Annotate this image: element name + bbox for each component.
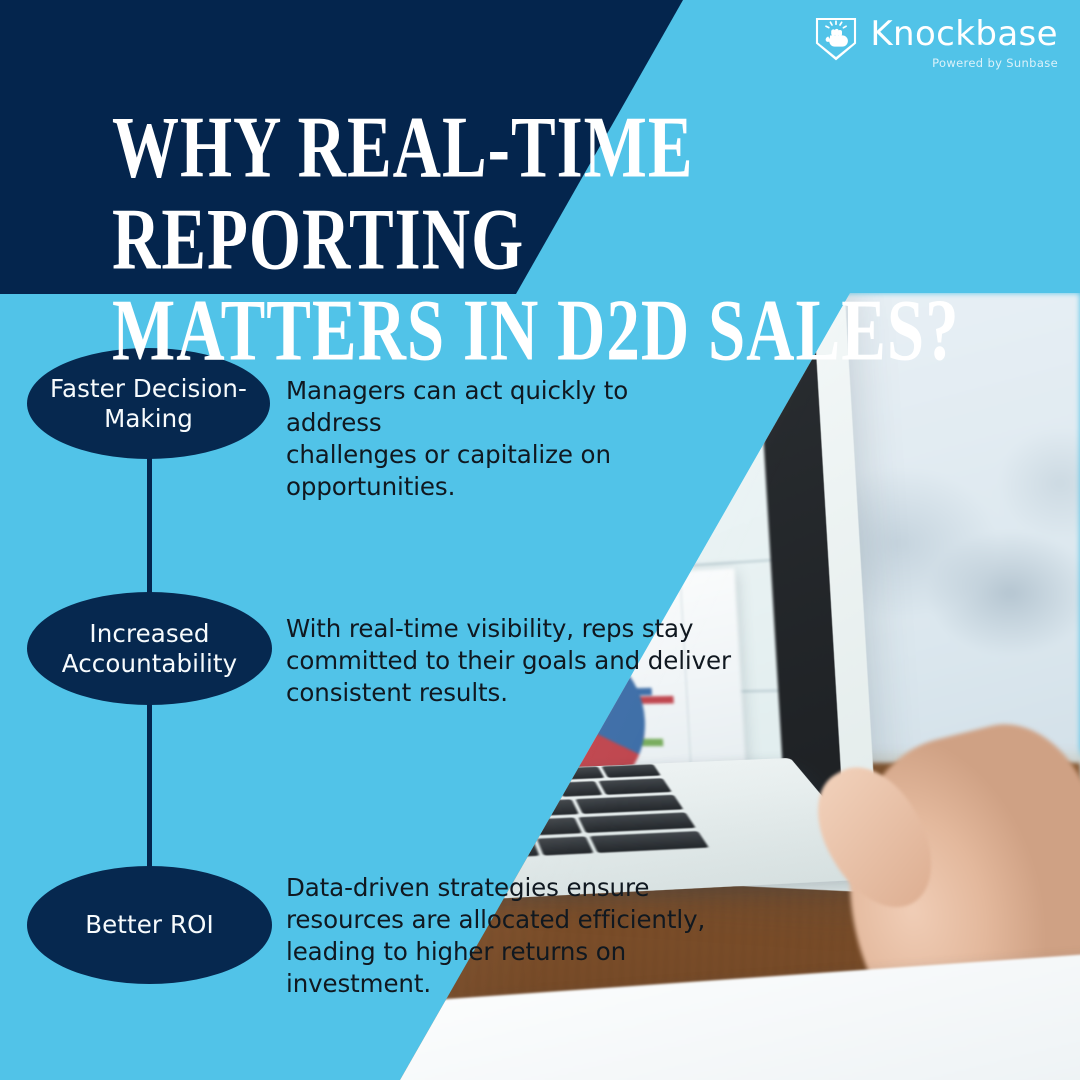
timeline-pill-label: Faster Decision- Making — [34, 374, 263, 434]
timeline-pill-label: Increased Accountability — [46, 619, 253, 679]
timeline-description-better-roi: Data-driven strategies ensure resources … — [286, 872, 746, 999]
brand-name: Knockbase — [870, 17, 1058, 51]
infographic-canvas: Revenue Q1 12.4 Q2 18.9 Q3 21.2 Q4 27.5 … — [0, 0, 1080, 1080]
timeline-pill-label: Better ROI — [69, 910, 230, 940]
page-title: WHY REAL-TIME REPORTING MATTERS IN D2D S… — [112, 101, 1028, 377]
knock-shield-icon — [814, 16, 858, 62]
brand-tagline: Powered by Sunbase — [932, 56, 1058, 70]
timeline-description-faster-decision-making: Managers can act quickly to address chal… — [286, 375, 726, 502]
brand-logo[interactable]: Knockbase Powered by Sunbase — [814, 16, 1058, 70]
timeline-pill-better-roi[interactable]: Better ROI — [27, 866, 272, 984]
connector-line-1 — [147, 450, 152, 600]
timeline-pill-increased-accountability[interactable]: Increased Accountability — [27, 592, 272, 705]
connector-line-2 — [147, 698, 152, 873]
timeline-description-increased-accountability: With real-time visibility, reps stay com… — [286, 613, 736, 709]
